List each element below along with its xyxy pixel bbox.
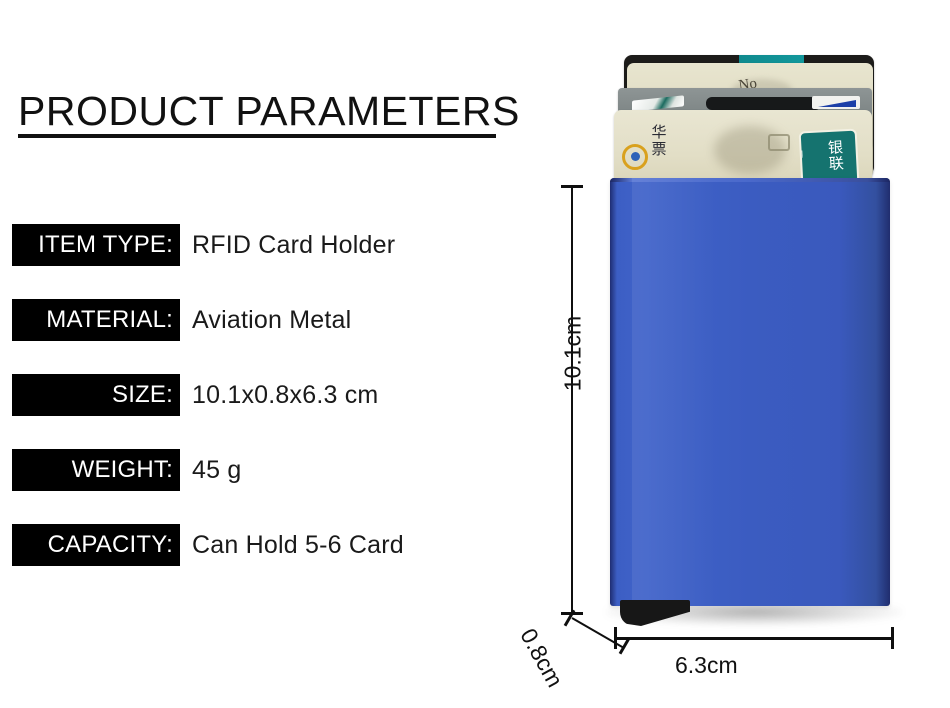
page-title: PRODUCT PARAMETERS <box>18 88 520 135</box>
dimension-width-tick-right <box>891 627 894 649</box>
spec-row-item-type: ITEM TYPE: RFID Card Holder <box>0 224 520 266</box>
dimension-width-tick-left <box>614 627 617 649</box>
spec-row-material: MATERIAL: Aviation Metal <box>0 299 520 341</box>
title-underline-rule <box>18 134 496 138</box>
case-sheen-highlight <box>632 178 716 606</box>
spec-key-weight: WEIGHT: <box>12 449 180 491</box>
magnetic-stripe-icon <box>706 97 821 110</box>
card-cn-text: 华票 <box>650 124 668 158</box>
dimension-height-label: 10.1cm <box>560 299 587 409</box>
dimension-height-tick-top <box>561 185 583 188</box>
spec-value-item-type: RFID Card Holder <box>192 224 395 266</box>
spec-value-material: Aviation Metal <box>192 299 351 341</box>
dimension-width-line <box>615 637 894 640</box>
case-top-edge <box>610 178 890 182</box>
spec-list: ITEM TYPE: RFID Card Holder MATERIAL: Av… <box>0 224 520 599</box>
spec-row-capacity: CAPACITY: Can Hold 5-6 Card <box>0 524 520 566</box>
card-holder-case <box>610 178 890 606</box>
spec-value-size: 10.1x0.8x6.3 cm <box>192 374 378 416</box>
spec-panel: PRODUCT PARAMETERS ITEM TYPE: RFID Card … <box>0 0 520 708</box>
product-parameters-page: PRODUCT PARAMETERS ITEM TYPE: RFID Card … <box>0 0 950 708</box>
dimension-thickness-label: 0.8cm <box>514 624 568 692</box>
unionpay-latin-text: Pay <box>799 149 808 180</box>
spec-row-size: SIZE: 10.1x0.8x6.3 cm <box>0 374 520 416</box>
unionpay-cn-text: 银联 <box>827 139 845 172</box>
gold-emblem-icon <box>622 144 648 170</box>
card-gray-right-mark <box>812 96 860 109</box>
spec-value-weight: 45 g <box>192 449 241 491</box>
spec-row-weight: WEIGHT: 45 g <box>0 449 520 491</box>
spec-key-capacity: CAPACITY: <box>12 524 180 566</box>
dimension-width-label: 6.3cm <box>675 652 738 679</box>
spec-key-size: SIZE: <box>12 374 180 416</box>
product-image-panel: No 华票 Pay 银联 <box>520 0 950 708</box>
card-chip-icon <box>768 134 790 151</box>
spec-key-material: MATERIAL: <box>12 299 180 341</box>
spec-key-item-type: ITEM TYPE: <box>12 224 180 266</box>
spec-value-capacity: Can Hold 5-6 Card <box>192 524 404 566</box>
